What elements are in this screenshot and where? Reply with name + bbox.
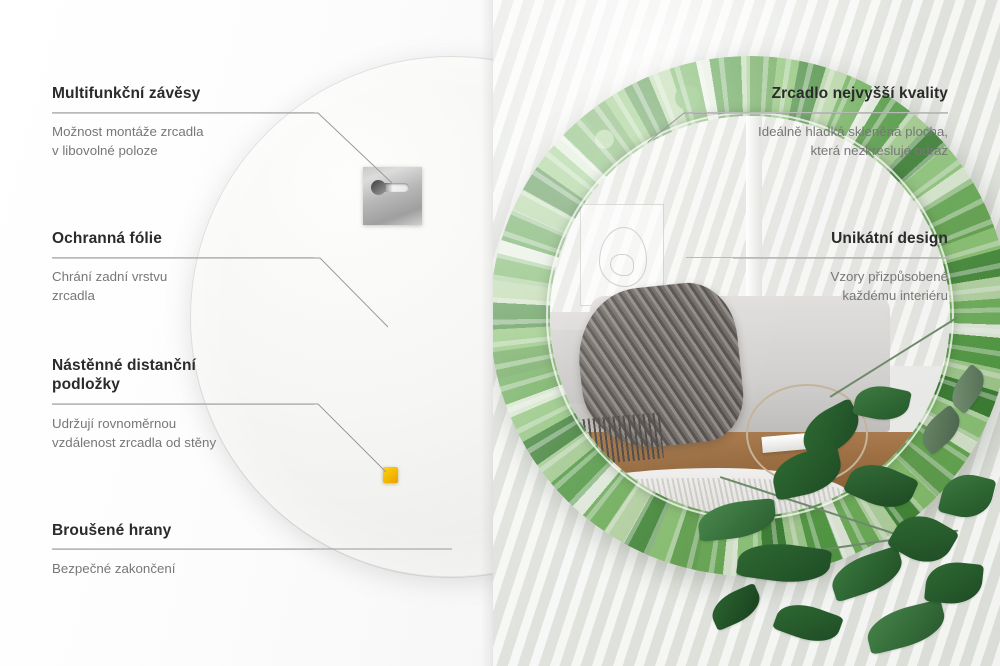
callout-description-line: zrcadla [52,287,314,306]
callout-title: Ochranná fólie [52,229,314,248]
callout-rule [52,257,314,258]
callout-title: Multifunkční závěsy [52,84,314,103]
callout-description: Udržují rovnoměrnou vzdálenost zrcadla o… [52,415,314,453]
callout-protective-foil: Ochranná fólie Chrání zadní vrstvu zrcad… [52,229,314,306]
callout-ground-edges: Broušené hrany Bezpečné zakončení [52,521,314,579]
hanger-plate [363,167,422,225]
callout-description-line: Udržují rovnoměrnou [52,415,314,434]
callout-description-line: Bezpečné zakončení [52,560,314,579]
callout-description-line: Vzory přizpůsobené [686,268,948,287]
callout-description-line: která nezkresluje odraz [686,142,948,161]
callout-unique-design: Unikátní design Vzory přizpůsobené každé… [686,229,948,306]
callout-description: Vzory přizpůsobené každému interiéru [686,268,948,306]
callout-rule [52,404,314,405]
callout-highest-quality-mirror: Zrcadlo nejvyšší kvality Ideálně hladká … [686,84,948,161]
callout-description-line: každému interiéru [686,287,948,306]
callout-multifunctional-hangers: Multifunkční závěsy Možnost montáže zrca… [52,84,314,161]
callout-rule [686,257,948,258]
callout-title: Zrcadlo nejvyšší kvality [686,84,948,103]
callout-description-line: Ideálně hladká skleněná plocha, [686,123,948,142]
callout-description: Ideálně hladká skleněná plocha, která ne… [686,123,948,161]
callout-title-line: Nástěnné distanční [52,356,314,375]
yellow-spacer-pad [383,467,398,483]
hanger-keyhole-slot [373,183,409,192]
callout-wall-spacers: Nástěnné distanční podložky Udržují rovn… [52,356,314,453]
callout-rule [52,549,314,550]
callout-description-line: Možnost montáže zrcadla [52,123,314,142]
callout-description: Bezpečné zakončení [52,560,314,579]
callout-title: Unikátní design [686,229,948,248]
callout-description: Chrání zadní vrstvu zrcadla [52,268,314,306]
callout-title-line: podložky [52,375,314,394]
callout-rule [686,112,948,113]
callout-rule [52,112,314,113]
callout-description-line: v libovolné poloze [52,142,314,161]
callout-title: Nástěnné distanční podložky [52,356,314,395]
callout-description: Možnost montáže zrcadla v libovolné polo… [52,123,314,161]
callout-description-line: vzdálenost zrcadla od stěny [52,434,314,453]
callout-title: Broušené hrany [52,521,314,540]
callout-description-line: Chrání zadní vrstvu [52,268,314,287]
infographic-stage: Multifunkční závěsy Možnost montáže zrca… [0,0,1000,666]
